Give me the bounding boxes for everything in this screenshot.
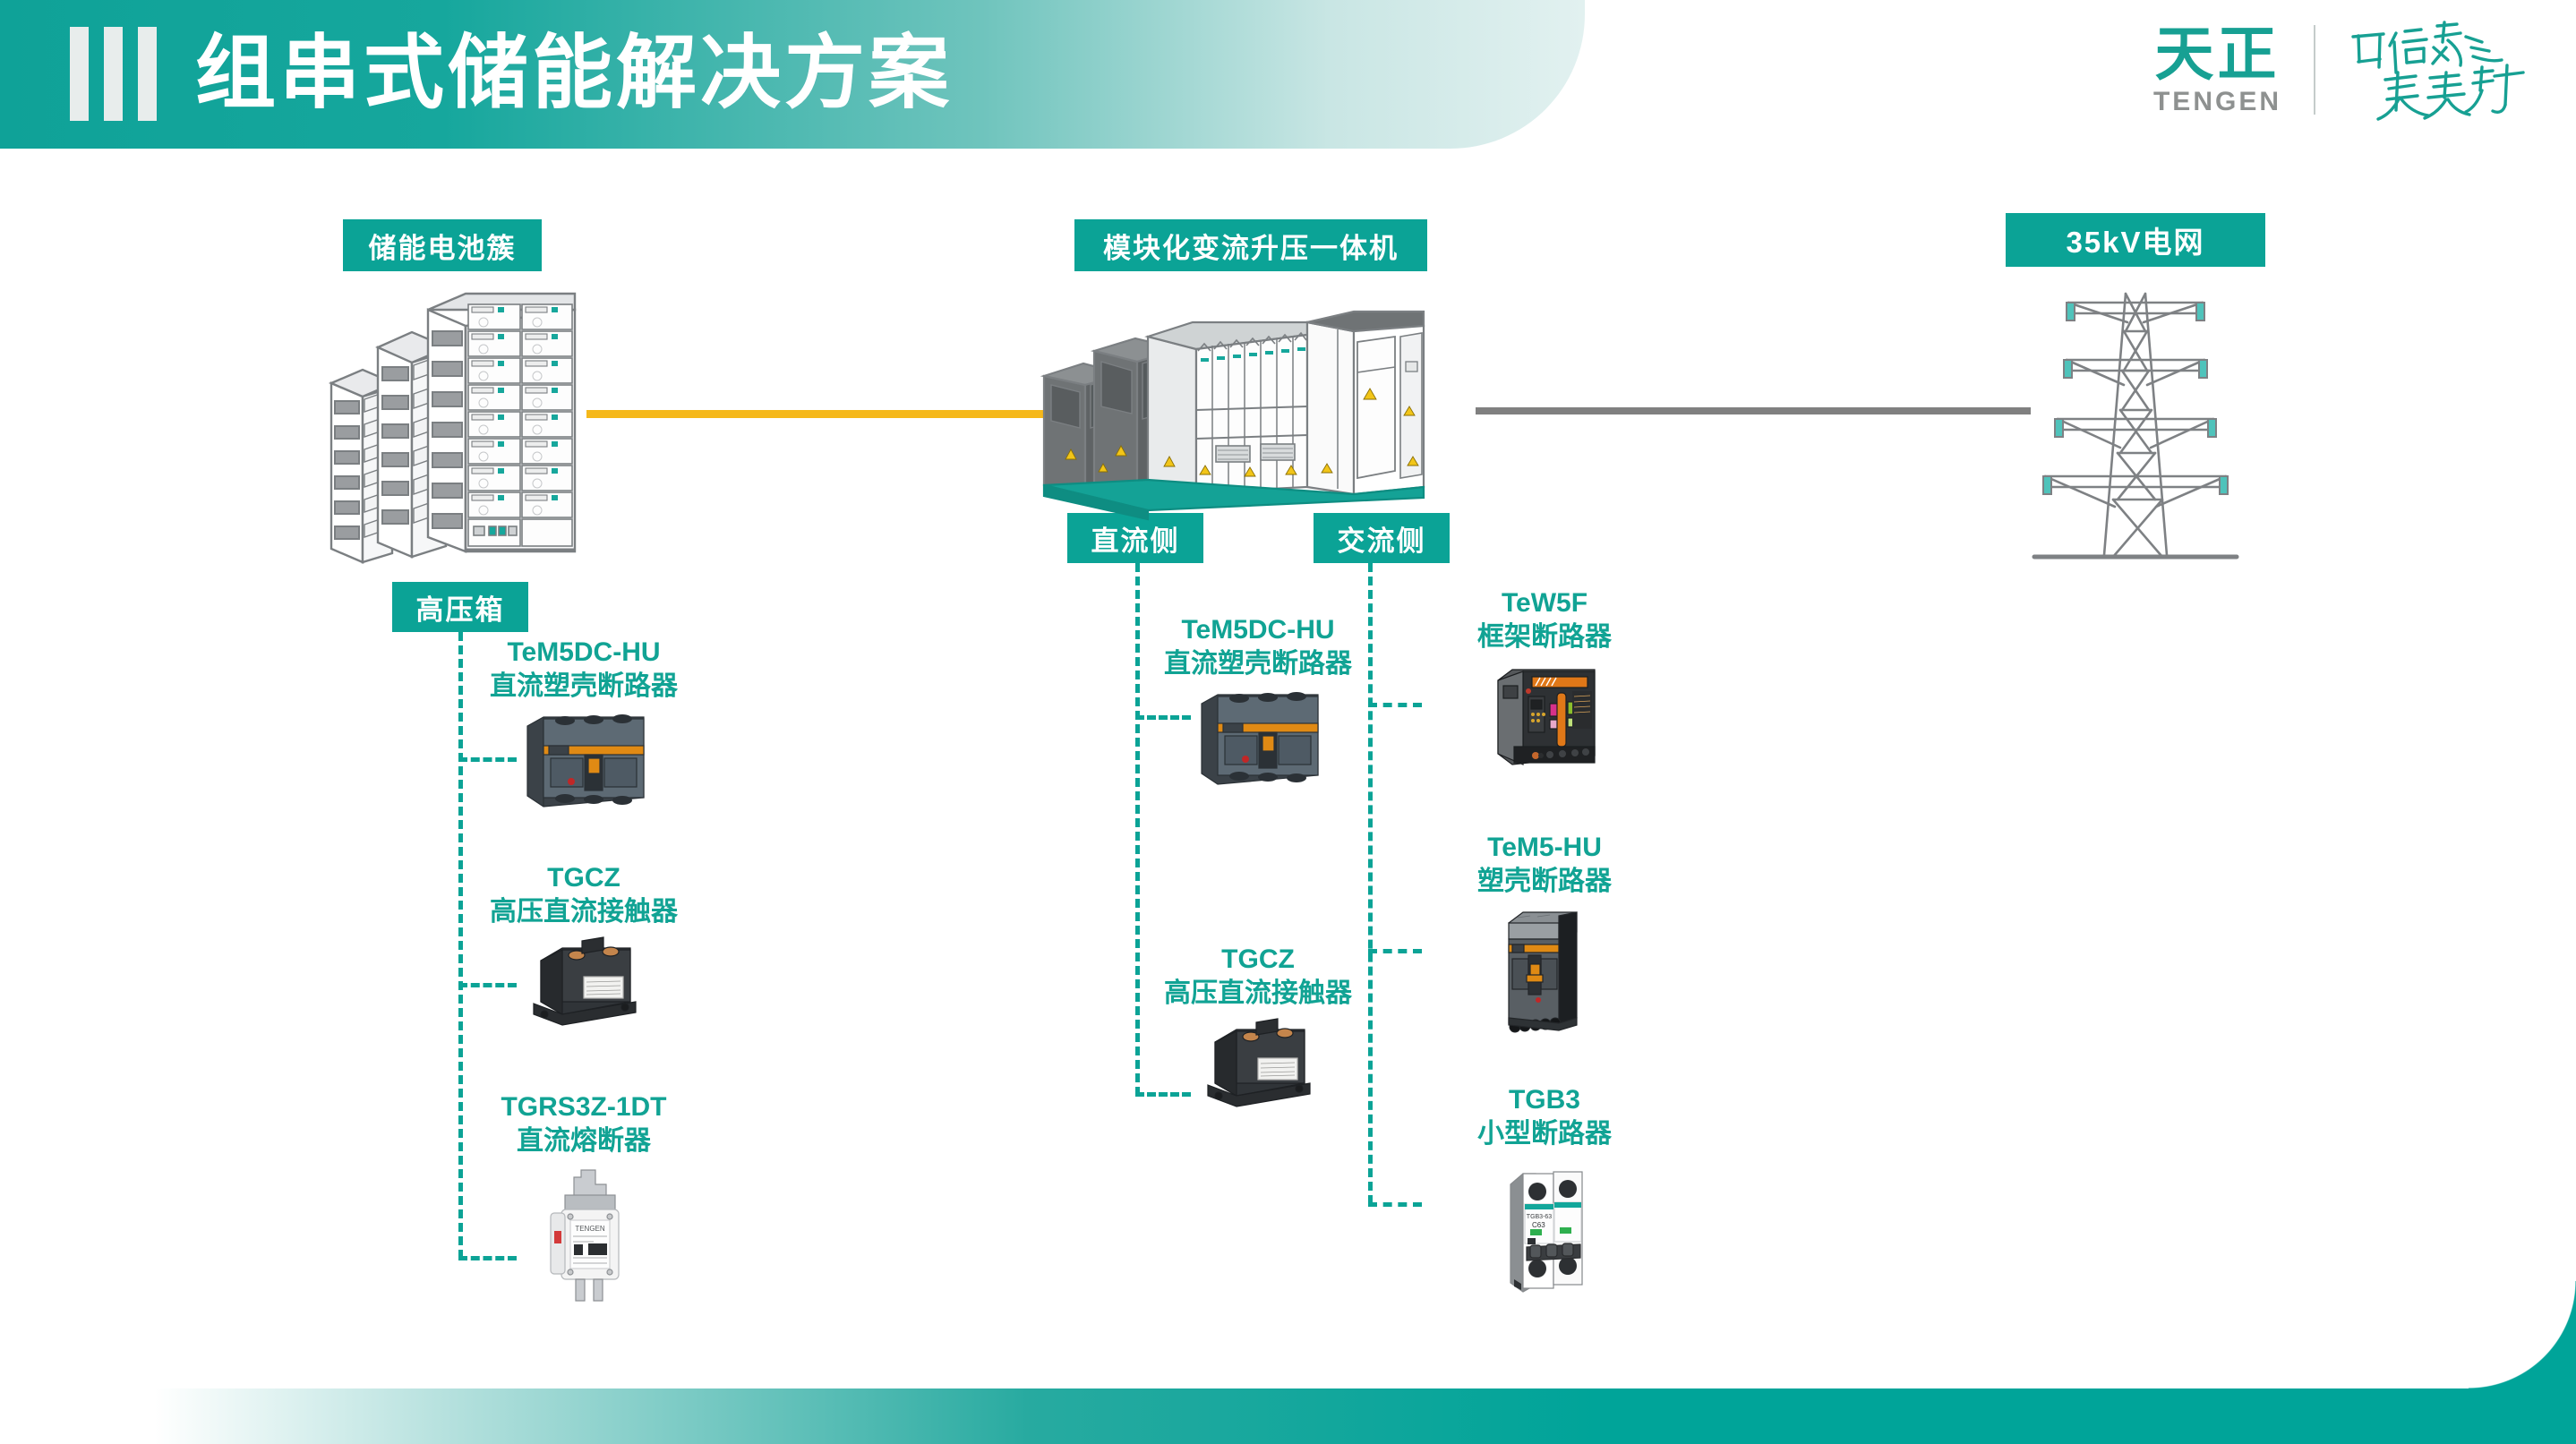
ac-side-branch-3 (1368, 1202, 1422, 1207)
product-card[interactable]: TeM5DC-HU 直流塑壳断路器 (1137, 613, 1379, 795)
logo-mark: 天正 TENGEN (2153, 22, 2281, 117)
chip-label: 35kV电网 (2066, 218, 2204, 261)
mccb-dc-icon (1137, 688, 1379, 795)
chip-battery-cluster: 储能电池簇 (343, 219, 542, 271)
product-model: TGCZ (1137, 943, 1379, 976)
product-name: 直流熔断器 (463, 1124, 705, 1159)
product-name: 小型断路器 (1424, 1116, 1665, 1152)
brand-slogan-handwriting (2348, 21, 2527, 119)
product-model: TGCZ (463, 861, 705, 894)
product-model: TeM5DC-HU (463, 636, 705, 669)
logo-english-name: TENGEN (2153, 87, 2281, 117)
product-name: 高压直流接触器 (463, 894, 705, 930)
product-card[interactable]: TGB3 小型断路器 TGB3-63 C63 (1424, 1083, 1665, 1305)
ac-bus-line (1476, 407, 2031, 414)
product-name: 框架断路器 (1424, 619, 1665, 655)
product-model: TGB3 (1424, 1083, 1665, 1116)
product-model: TeM5DC-HU (1137, 613, 1379, 646)
product-card[interactable]: TeM5-HU 塑壳断路器 (1424, 831, 1665, 1039)
product-model: TeW5F (1424, 586, 1665, 619)
product-card[interactable]: TeW5F 框架断路器 (1424, 586, 1665, 777)
product-card[interactable]: TGRS3Z-1DT 直流熔断器 TENGEN (463, 1090, 705, 1317)
pcs-container-illustration (1039, 295, 1442, 533)
product-name: 直流塑壳断路器 (463, 669, 705, 705)
page-title: 组串式储能解决方案 (195, 20, 953, 127)
acb-icon (1424, 661, 1665, 777)
brand-logo: 天正 TENGEN (2153, 16, 2527, 124)
product-name: 高压直流接触器 (1137, 976, 1379, 1012)
svg-text:C63: C63 (1532, 1221, 1545, 1229)
logo-divider (2314, 25, 2315, 115)
bottom-corner-decoration (2469, 1281, 2576, 1388)
dc-contactor-icon (463, 936, 705, 1038)
product-model: TeM5-HU (1424, 831, 1665, 864)
mccb-dc-icon (463, 710, 705, 817)
product-model: TGRS3Z-1DT (463, 1090, 705, 1124)
product-card[interactable]: TeM5DC-HU 直流塑壳断路器 (463, 636, 705, 817)
product-card[interactable]: TGCZ 高压直流接触器 (463, 861, 705, 1038)
battery-cluster-illustration (322, 285, 591, 576)
logo-chinese-name: 天正 (2154, 22, 2280, 85)
dc-bus-line (586, 410, 1061, 418)
chip-label: 储能电池簇 (369, 226, 517, 266)
mccb-ac-icon (1424, 905, 1665, 1039)
svg-text:TGB3-63: TGB3-63 (1527, 1214, 1553, 1220)
three-bars-icon (70, 27, 157, 121)
slide-canvas: 组串式储能解决方案 天正 TENGEN (0, 0, 2576, 1444)
product-name: 塑壳断路器 (1424, 864, 1665, 900)
product-name: 直流塑壳断路器 (1137, 646, 1379, 682)
dc-contactor-icon (1137, 1017, 1379, 1120)
chip-grid-35kv: 35kV电网 (2006, 213, 2265, 267)
mcb-icon: TGB3-63 C63 (1424, 1158, 1665, 1305)
bottom-bar (0, 1388, 2576, 1444)
chip-label: 模块化变流升压一体机 (1103, 226, 1399, 266)
dc-fuse-icon: TENGEN (463, 1165, 705, 1317)
chip-high-voltage-box: 高压箱 (392, 582, 528, 632)
product-card[interactable]: TGCZ 高压直流接触器 (1137, 943, 1379, 1120)
chip-pcs-container: 模块化变流升压一体机 (1074, 219, 1427, 271)
chip-label: 高压箱 (416, 587, 505, 628)
svg-text:TENGEN: TENGEN (575, 1225, 605, 1233)
transmission-tower-icon (2015, 278, 2256, 568)
page-header: 组串式储能解决方案 (0, 0, 1585, 149)
